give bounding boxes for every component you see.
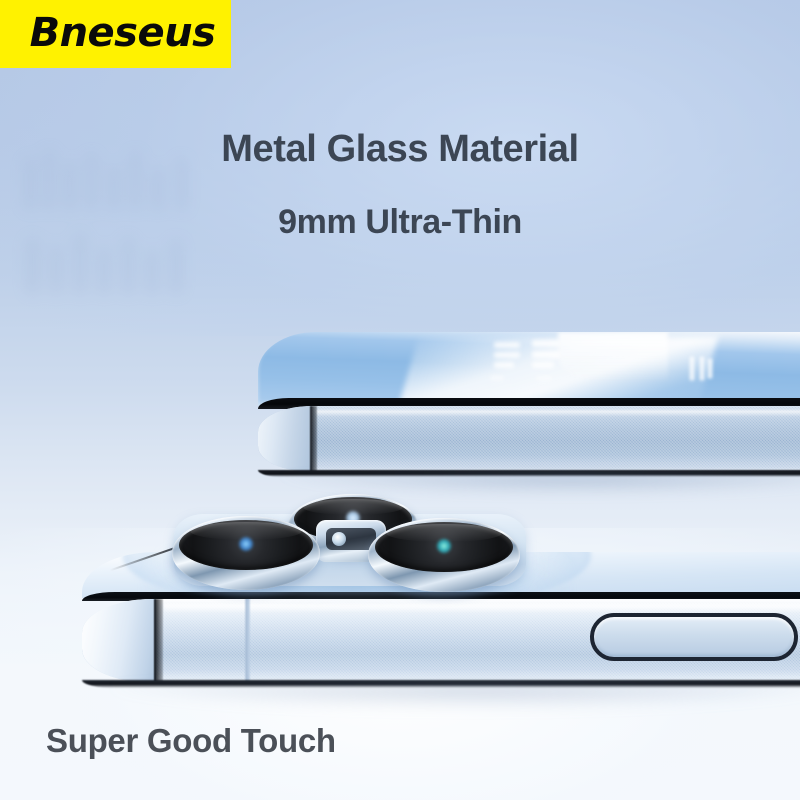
frame-highlight — [164, 604, 800, 613]
frame-corner-seam — [310, 406, 317, 472]
camera-flash-icon — [332, 532, 346, 546]
footer-caption: Super Good Touch — [46, 722, 336, 760]
screen-reflection-side-glyphs — [678, 356, 718, 398]
brand-logo: Bneseus — [0, 0, 231, 68]
page-title: Metal Glass Material — [0, 128, 800, 171]
brand-logo-text: Bneseus — [16, 13, 216, 55]
lens-flare — [436, 538, 452, 554]
lens-glass — [375, 522, 513, 572]
side-button[interactable] — [590, 613, 798, 661]
page-subtitle: 9mm Ultra-Thin — [0, 203, 800, 242]
lens-flare — [238, 536, 254, 552]
lens-glass — [179, 520, 313, 570]
phone-top-glass-back — [258, 332, 800, 406]
phone-top — [258, 332, 800, 478]
camera-lens-right — [368, 518, 520, 592]
phone-top-metal-frame — [258, 406, 800, 472]
screen-reflection-glyphs — [488, 340, 608, 398]
phone-bottom-shadow — [112, 684, 800, 710]
antenna-band — [244, 599, 251, 683]
phone-bottom-metal-frame — [82, 599, 800, 683]
camera-lens-left — [172, 516, 320, 590]
frame-highlight — [316, 410, 800, 417]
camera-module — [150, 492, 550, 602]
frame-corner-seam — [154, 599, 163, 683]
product-marketing-image: Bneseus Metal Glass Material 9mm Ultra-T… — [0, 0, 800, 800]
